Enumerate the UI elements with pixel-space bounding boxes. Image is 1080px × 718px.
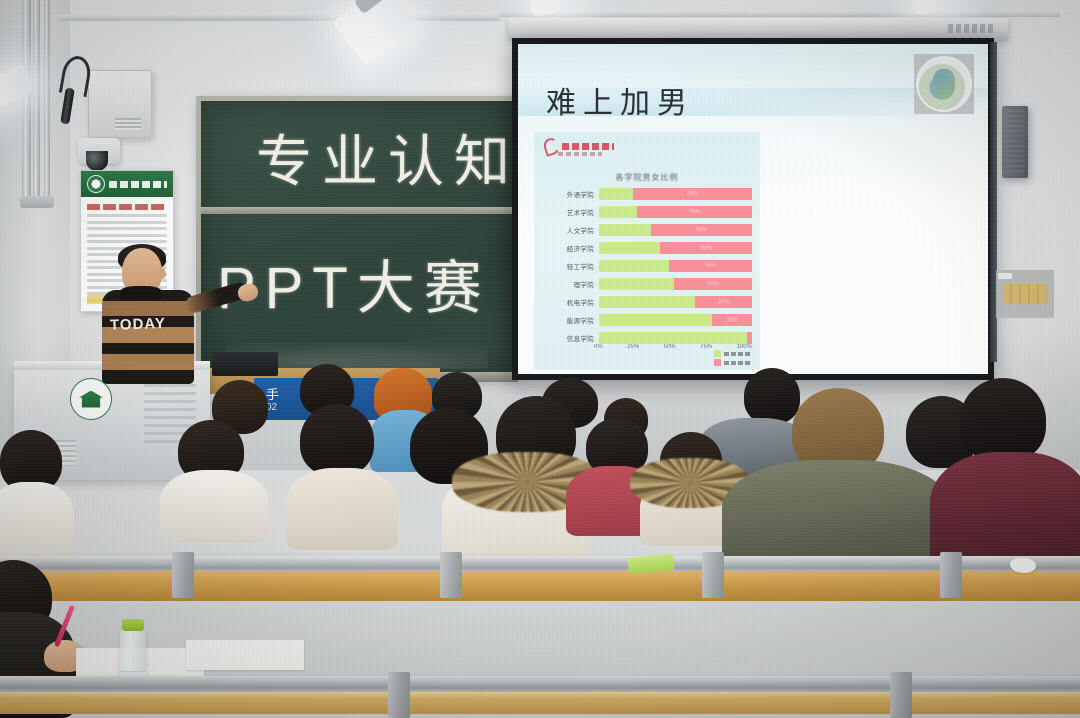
bar-value-label: 66% [696,227,707,233]
bar-track: 78% [599,188,752,200]
presentation-slide: 难上加男 各学院男女比例 外语学院78%艺术学院75%人文学院66%经济学院60… [518,44,988,374]
bar-category-label: 能源学院 [542,315,599,325]
sign-text-line1: 手 [266,384,281,403]
poster-university-name [109,181,167,188]
bench-rail [0,676,1080,693]
legend-swatch [714,359,721,366]
chart-bar-row: 艺术学院75% [542,204,752,220]
chart-bar-row: 机电学院37% [542,294,752,310]
vent-grille [115,118,141,130]
bench-bracket [940,552,962,598]
poster-title-text [87,204,167,210]
bench-bracket [388,672,410,718]
bench-bracket [172,552,194,598]
projector-screen-housing [508,18,1008,40]
chart-bar-row: 能源学院26% [542,312,752,328]
bar-category-label: 机电学院 [542,297,599,307]
notice-content [1003,284,1047,304]
classroom-photo: 专业认知 PPT大赛 难上加男 各学院男女比例 [0,0,1080,718]
legend-label [724,352,752,356]
bench-bracket [890,672,912,718]
bar-segment-female [599,224,651,236]
legend-swatch [714,350,721,357]
chart-bar-row: 人文学院66% [542,222,752,238]
chart-bar-row: 轻工学院54% [542,258,752,274]
presenter: TODAY [96,248,248,384]
security-camera-icon [78,138,120,164]
bar-value-label: 37% [718,299,729,305]
desk-surface [0,692,1080,714]
bar-segment-male: 60% [660,242,752,254]
ceiling-conduit-right [500,11,1060,17]
bar-segment-female [599,206,637,218]
bar-segment-female [599,314,712,326]
bar-category-label: 信息学院 [542,333,599,343]
student-body [286,468,398,550]
bar-track: 54% [599,260,752,272]
bar-category-label: 外语学院 [542,189,599,199]
ceiling-conduit [60,14,500,21]
housing-brand-label [948,24,994,33]
presenter-ear [158,268,166,279]
speaker-grille [1006,110,1024,174]
bar-segment-male: 78% [633,188,752,200]
bar-segment-female [599,242,660,254]
bar-track: 26% [599,314,752,326]
legend-item [714,359,752,366]
poster-header [81,171,173,197]
slide-university-seal-icon [914,54,974,114]
wall-pipe [33,0,40,208]
legend-label [724,361,752,365]
presenter-sweater [102,290,194,384]
student-head [744,368,800,424]
bar-value-label: 26% [727,317,738,323]
axis-tick-label: 0% [594,344,603,350]
student-head [300,404,374,476]
bar-segment-female [599,260,669,272]
bar-value-label: 78% [687,191,698,197]
sweater-text: TODAY [110,315,166,334]
bar-segment-male [747,332,752,344]
bar-category-label: 经济学院 [542,243,599,253]
bar-track: 75% [599,206,752,218]
bar-segment-male: 66% [651,224,752,236]
university-seal-icon [87,175,105,193]
bar-track: 60% [599,242,752,254]
bar-segment-male: 54% [669,260,752,272]
blackboard-text-line2: PPT大赛 [217,241,491,325]
wall-speaker-icon [1002,106,1028,178]
bar-track [599,332,752,344]
bar-value-label: 51% [707,281,718,287]
student-head [960,378,1046,462]
pipe-elbow [20,196,54,208]
wall-pipe [44,0,50,206]
bar-category-label: 理学院 [542,279,599,289]
camera-dome [86,151,108,171]
desk-surface [0,571,1080,601]
logo-wordmark [562,143,614,150]
legend-item [714,350,752,357]
bar-segment-male: 75% [637,206,752,218]
bar-track: 51% [599,278,752,290]
slide-title: 难上加男 [546,78,694,122]
blackboard-divider [201,207,513,214]
bar-category-label: 轻工学院 [542,261,599,271]
bar-category-label: 艺术学院 [542,207,599,217]
bar-segment-female [599,296,695,308]
chart-plot-area: 外语学院78%艺术学院75%人文学院66%经济学院60%轻工学院54%理学院51… [542,186,752,336]
seal-ring [916,56,972,112]
chart-title: 各学院男女比例 [534,172,760,183]
bottle-cap [122,619,144,631]
bar-segment-female [599,188,633,200]
bar-track: 37% [599,296,752,308]
paper-sheet [186,640,304,670]
chart-panel: 各学院男女比例 外语学院78%艺术学院75%人文学院66%经济学院60%轻工学院… [534,132,760,370]
axis-tick-label: 25% [627,344,639,350]
bar-value-label: 54% [705,263,716,269]
axis-tick-label: 50% [664,344,676,350]
tissue [1010,558,1036,573]
bar-category-label: 人文学院 [542,225,599,235]
chart-bar-row: 外语学院78% [542,186,752,202]
student-body [160,470,268,542]
blackboard-text-line1: 专业认知 [256,117,513,198]
chart-bar-row: 经济学院60% [542,240,752,256]
wall-notice-board [996,270,1054,318]
wall-control-box [88,70,152,138]
bar-value-label: 60% [701,245,712,251]
projection-screen: 难上加男 各学院男女比例 外语学院78%艺术学院75%人文学院66%经济学院60… [512,38,994,380]
bar-segment-male: 26% [712,314,752,326]
axis-tick-label: 75% [700,344,712,350]
notice-tag [998,273,1012,279]
bar-segment-female [599,332,747,344]
chart-legend [714,350,752,368]
bar-segment-male: 51% [674,278,752,290]
bench-bracket [702,552,724,598]
bench-bracket [440,552,462,598]
student-body [0,482,74,558]
logo-subtitle [558,152,602,156]
wall-pipe [22,0,31,208]
chart-source-logo [544,138,614,155]
bar-segment-female [599,278,674,290]
presenter-collar [120,286,162,300]
bar-segment-male: 37% [695,296,752,308]
university-emblem-icon [70,378,112,420]
chart-bar-row: 理学院51% [542,276,752,292]
bar-track: 66% [599,224,752,236]
bar-value-label: 75% [689,209,700,215]
